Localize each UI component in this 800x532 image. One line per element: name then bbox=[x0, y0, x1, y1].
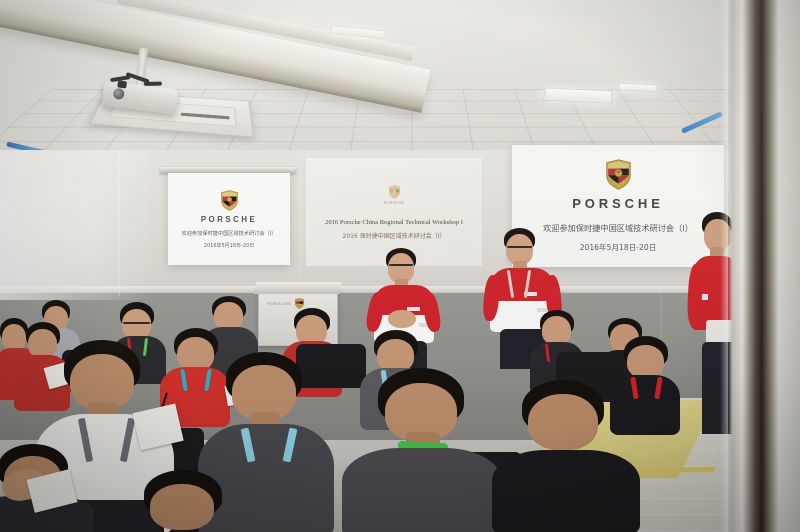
audience-member-front bbox=[352, 368, 492, 532]
audience-torso bbox=[342, 448, 502, 532]
audience-torso bbox=[492, 450, 640, 532]
glasses-icon bbox=[123, 322, 150, 324]
right-screen-wordmark: PORSCHE bbox=[572, 196, 664, 211]
audience-member-front bbox=[500, 380, 630, 532]
podium-wordmark: PORSCHE bbox=[267, 301, 292, 306]
wall-seam bbox=[118, 150, 120, 296]
right-screen-date: 2016年5月18日-20日 bbox=[580, 242, 657, 253]
glasses-icon bbox=[507, 246, 532, 248]
audience-head bbox=[627, 345, 664, 378]
glasses-icon bbox=[389, 264, 413, 266]
porsche-crest-icon bbox=[389, 185, 400, 199]
left-projection-screen: PORSCHE 欢迎参加保时捷中国区域技术研讨会（I） 2016年5月18日-2… bbox=[168, 173, 290, 265]
porsche-crest-icon bbox=[606, 159, 631, 190]
left-screen-date: 2016年5月18日-20日 bbox=[204, 242, 254, 249]
audience-head bbox=[528, 394, 598, 450]
audience-member-front bbox=[126, 470, 246, 532]
left-screen-chinese-line: 欢迎参加保时捷中国区域技术研讨会（I） bbox=[182, 230, 277, 237]
center-screen-chinese-line: 2016 保时捷中国区域技术研讨会（I） bbox=[343, 231, 446, 240]
right-door-frame bbox=[728, 0, 800, 532]
presenter-hands bbox=[388, 310, 416, 328]
audience-head bbox=[214, 302, 243, 330]
projector-lens bbox=[113, 88, 125, 100]
door-edge-highlight bbox=[720, 0, 728, 532]
left-screen-wordmark: PORSCHE bbox=[201, 215, 257, 224]
center-screen-english-line: 2016 Porsche China Regional Technical Wo… bbox=[325, 219, 463, 226]
porsche-crest-icon bbox=[221, 190, 238, 211]
podium-top-surface bbox=[254, 282, 342, 294]
classroom-photo: PORSCHE 欢迎参加保时捷中国区域技术研讨会（I） 2016年5月18日-2… bbox=[0, 0, 800, 532]
audience-head bbox=[122, 309, 151, 339]
audience-head bbox=[150, 484, 214, 530]
center-screen-subwordmark: PORSCHE bbox=[384, 201, 405, 205]
audience-head bbox=[542, 316, 571, 345]
wall-seam bbox=[300, 150, 302, 296]
